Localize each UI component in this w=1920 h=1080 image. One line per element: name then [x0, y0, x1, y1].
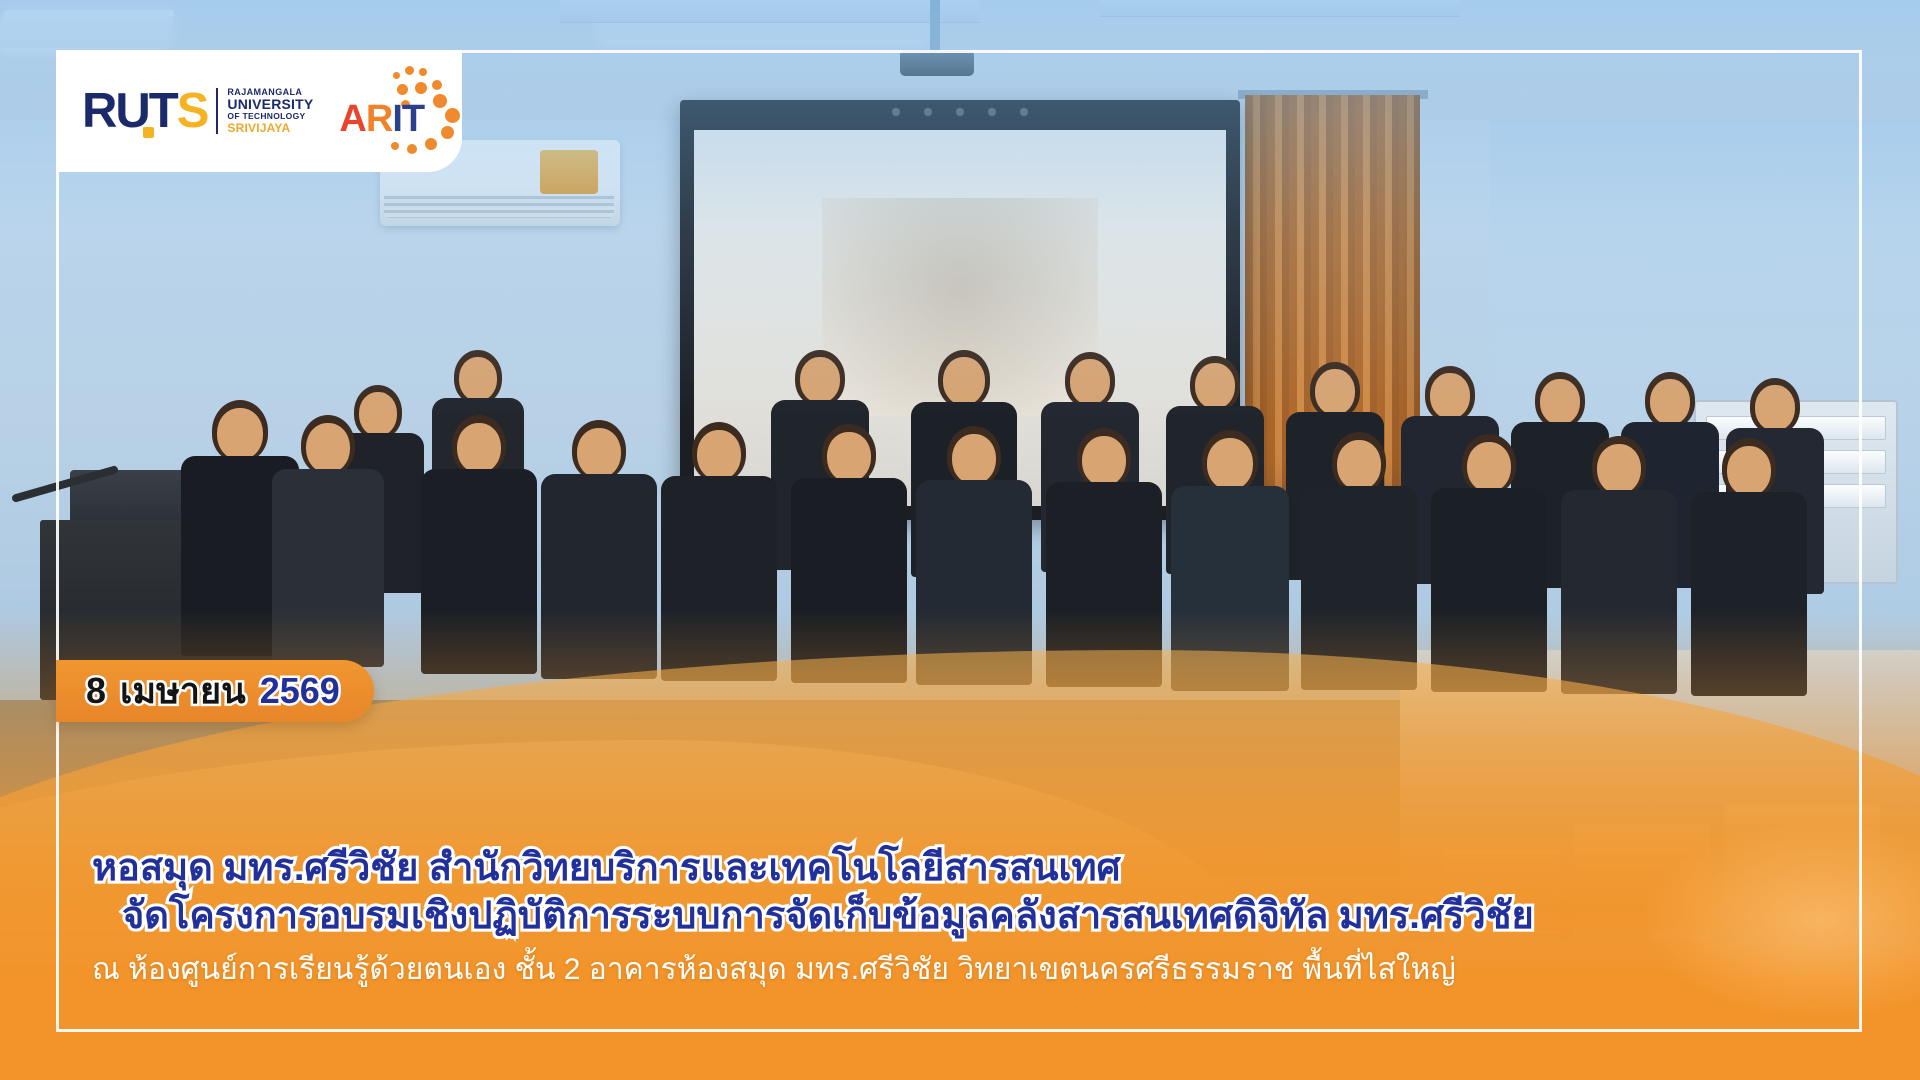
ceiling-vent: [560, 0, 980, 23]
event-poster: RUTS RAJAMANGALA UNIVERSITY OF TECHNOLOG…: [0, 0, 1920, 1080]
ruts-subtitle-line4: SRIVIJAYA: [227, 122, 313, 135]
screen-dots: [680, 108, 1240, 120]
date-month: เมษายน: [120, 673, 246, 709]
arit-letter-a: A: [339, 98, 365, 140]
air-conditioner-vent: [384, 196, 614, 218]
ruts-wordmark-accent: S: [177, 84, 208, 138]
ceiling-light-icon: [0, 10, 175, 48]
headline-line-2: จัดโครงการอบรมเชิงปฏิบัติการระบบการจัดเก…: [92, 892, 1850, 941]
date-day: 8: [86, 673, 106, 709]
ruts-logo: RUTS RAJAMANGALA UNIVERSITY OF TECHNOLOG…: [82, 87, 313, 136]
logo-divider: [216, 88, 218, 134]
air-conditioner-badge: [540, 150, 598, 194]
group-of-participants: [0, 300, 1920, 860]
headline-subtitle: ณ ห้องศูนย์การเรียนรู้ด้วยตนเอง ชั้น 2 อ…: [92, 947, 1850, 992]
arit-letter-t: T: [402, 98, 424, 140]
arit-wordmark: ARIT: [339, 100, 424, 138]
ruts-subtitle-line2: UNIVERSITY: [227, 97, 313, 113]
ceiling-vent: [1100, 0, 1460, 17]
date-badge: 8 เมษายน 2569: [56, 660, 374, 722]
ruts-subtitle: RAJAMANGALA UNIVERSITY OF TECHNOLOGY SRI…: [227, 87, 313, 136]
projector-icon: [900, 50, 974, 76]
ruts-wordmark-prefix: RUT: [82, 84, 177, 138]
ruts-wordmark: RUTS: [82, 87, 207, 136]
arit-letter-r: R: [366, 98, 392, 140]
logo-card: RUTS RAJAMANGALA UNIVERSITY OF TECHNOLOG…: [56, 50, 462, 172]
headline-block: หอสมุด มทร.ศรีวิชัย สำนักวิทยบริการและเท…: [0, 844, 1920, 992]
date-year: 2569: [260, 673, 340, 709]
ruts-wordmark-dot: [143, 127, 154, 138]
headline-line-1: หอสมุด มทร.ศรีวิชัย สำนักวิทยบริการและเท…: [92, 844, 1850, 893]
arit-logo: ARIT: [337, 64, 462, 158]
arit-letter-i: I: [392, 98, 402, 140]
